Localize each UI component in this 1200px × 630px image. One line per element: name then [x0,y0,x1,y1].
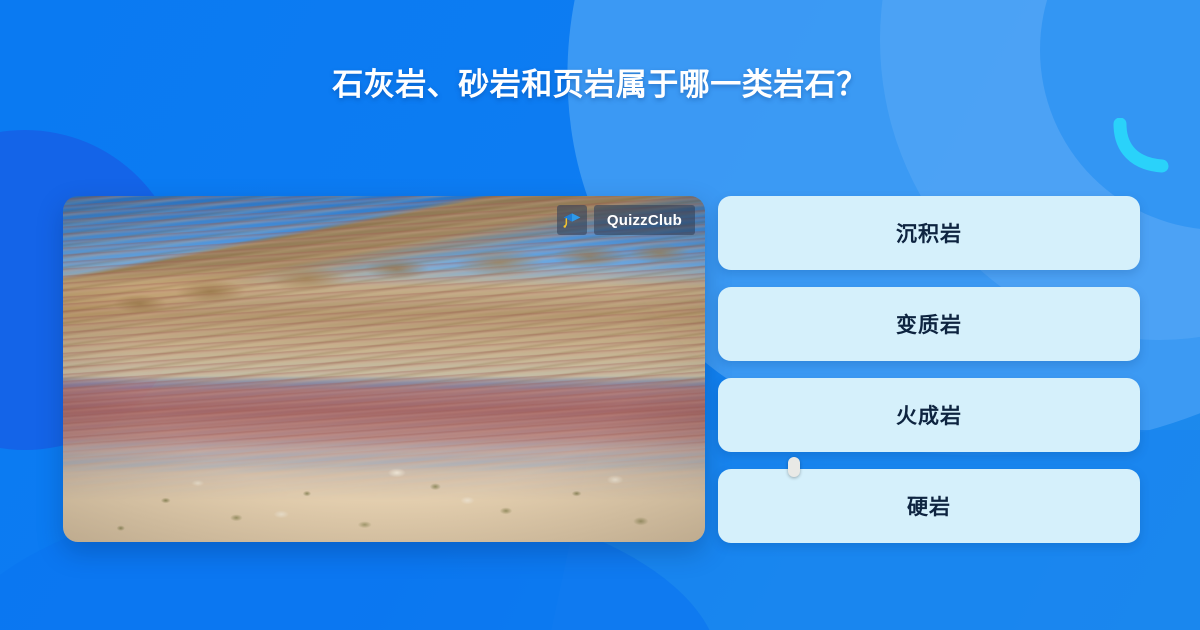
answer-option-3[interactable]: 火成岩 [718,378,1140,452]
answer-option-3-label: 火成岩 [896,400,962,430]
answer-option-4[interactable]: 硬岩 [718,469,1140,543]
watermark-brand-label: QuizzClub [594,205,695,235]
answer-option-1-label: 沉积岩 [896,218,962,248]
quiz-card: 石灰岩、砂岩和页岩属于哪一类岩石？ QuizzClub 沉积岩 变质岩 [0,0,1200,630]
swoosh-accent-icon [1112,118,1174,176]
answer-options-list: 沉积岩 变质岩 火成岩 硬岩 [718,196,1140,543]
answer-option-4-label: 硬岩 [907,491,951,521]
question-image [63,196,705,542]
answer-option-2[interactable]: 变质岩 [718,287,1140,361]
answer-option-2-label: 变质岩 [896,309,962,339]
answer-option-1[interactable]: 沉积岩 [718,196,1140,270]
page-title: 石灰岩、砂岩和页岩属于哪一类岩石？ [0,62,1200,108]
graduation-cap-icon [557,205,587,235]
pointer-indicator [788,457,800,477]
question-image-card: QuizzClub [63,196,705,542]
watermark: QuizzClub [557,205,695,235]
